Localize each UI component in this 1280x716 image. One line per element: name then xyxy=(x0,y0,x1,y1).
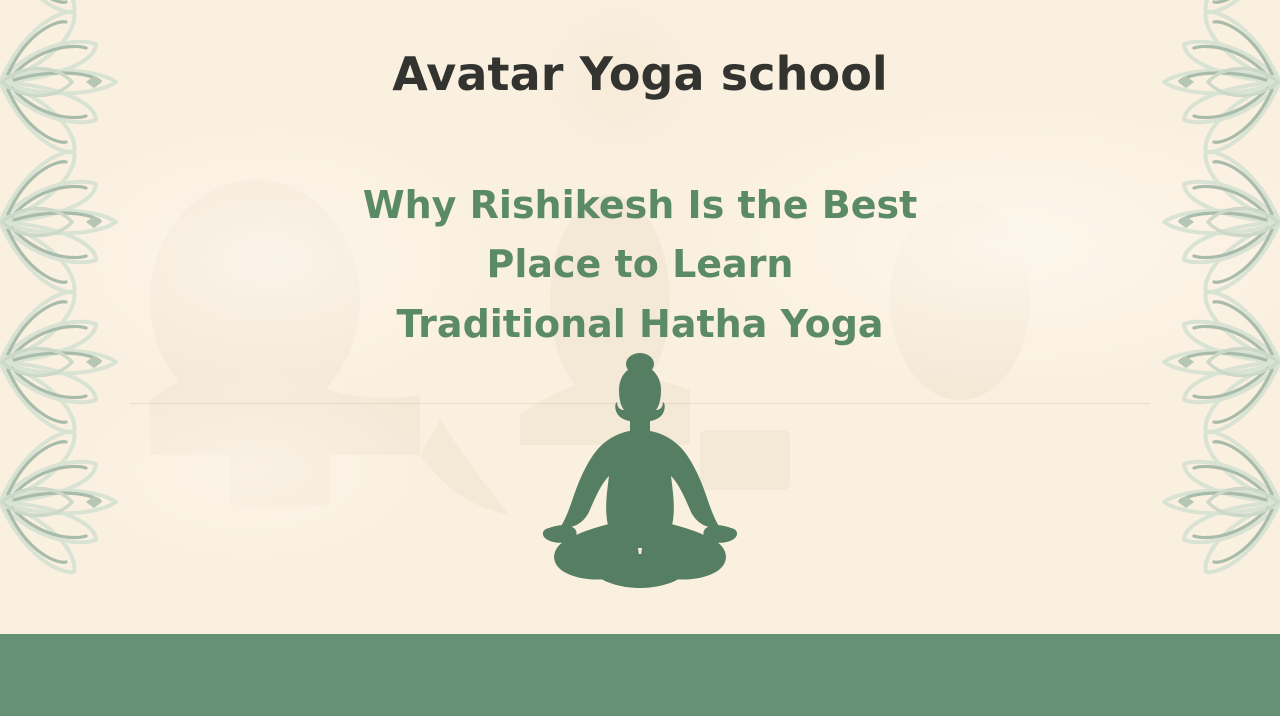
subtitle-line-2: Place to Learn xyxy=(0,235,1280,294)
subtitle-headline: Why Rishikesh Is the Best Place to Learn… xyxy=(0,176,1280,354)
page-title: Avatar Yoga school xyxy=(0,48,1280,101)
meditating-lotus-pose-silhouette-icon xyxy=(535,352,745,597)
subtitle-line-1: Why Rishikesh Is the Best xyxy=(0,176,1280,235)
slide-canvas: Avatar Yoga school Why Rishikesh Is the … xyxy=(0,0,1280,716)
footer-band xyxy=(0,634,1280,716)
meditation-figure xyxy=(535,352,745,597)
subtitle-line-3: Traditional Hatha Yoga xyxy=(0,295,1280,354)
